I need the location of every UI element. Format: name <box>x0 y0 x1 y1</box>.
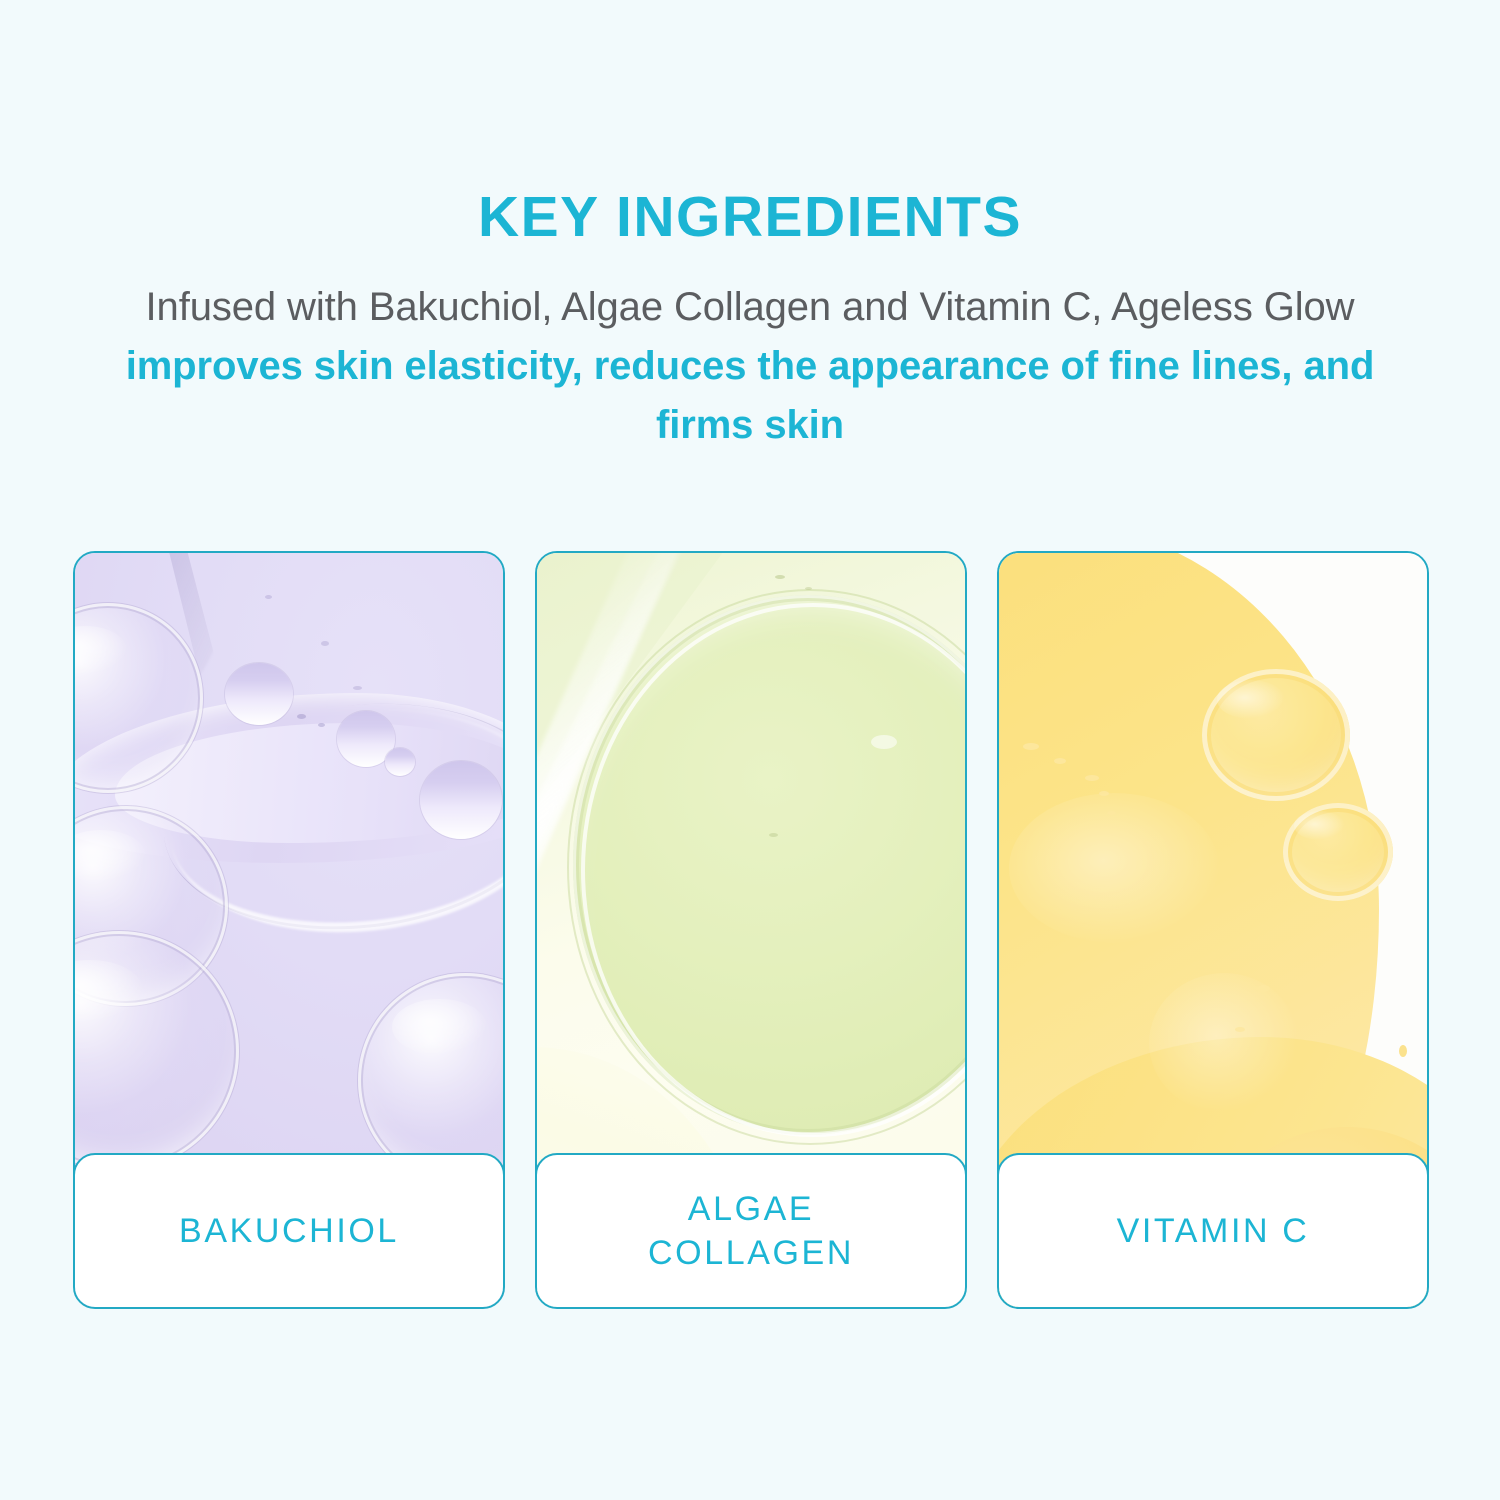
ingredient-card-bakuchiol[interactable]: BAKUCHIOL <box>73 551 505 1309</box>
subtitle-plain-text: Infused with Bakuchiol, Algae Collagen a… <box>146 285 1355 329</box>
card-label-text: BAKUCHIOL <box>179 1209 399 1253</box>
page-title: KEY INGREDIENTS <box>0 186 1500 248</box>
header-block: KEY INGREDIENTS Infused with Bakuchiol, … <box>0 186 1500 455</box>
subtitle-paragraph: Infused with Bakuchiol, Algae Collagen a… <box>120 278 1380 455</box>
card-label-vitamin-c: VITAMIN C <box>997 1153 1429 1309</box>
card-label-algae-collagen: ALGAE COLLAGEN <box>535 1153 967 1309</box>
subtitle-highlight-text: improves skin elasticity, reduces the ap… <box>126 344 1375 447</box>
key-ingredients-panel: KEY INGREDIENTS Infused with Bakuchiol, … <box>0 0 1500 1500</box>
card-label-text: ALGAE COLLAGEN <box>648 1187 854 1275</box>
ingredient-card-row: BAKUCHIOL <box>73 551 1429 1309</box>
ingredient-card-vitamin-c[interactable]: VITAMIN C <box>997 551 1429 1309</box>
card-label-bakuchiol: BAKUCHIOL <box>73 1153 505 1309</box>
ingredient-card-algae-collagen[interactable]: ALGAE COLLAGEN <box>535 551 967 1309</box>
card-label-text: VITAMIN C <box>1117 1209 1310 1253</box>
